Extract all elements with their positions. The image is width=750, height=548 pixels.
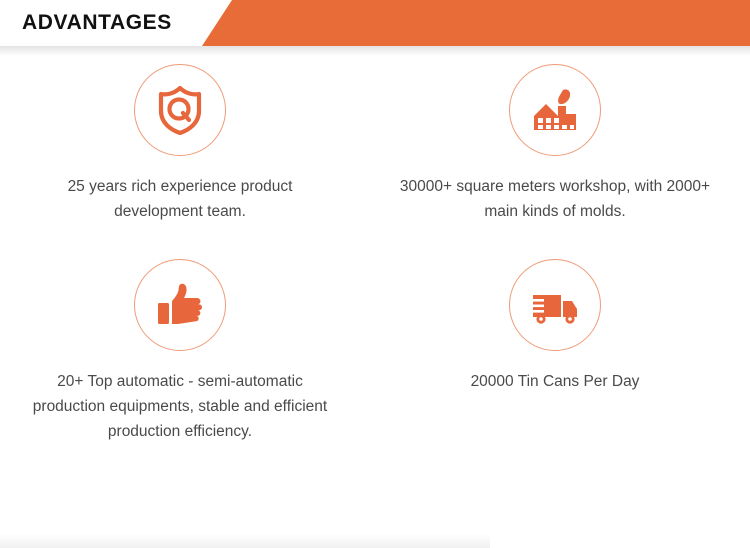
advantage-card: 20000 Tin Cans Per Day: [360, 251, 750, 446]
advantage-card: 20+ Top automatic - semi-automatic produ…: [0, 251, 360, 446]
thumbs-up-icon: [134, 259, 226, 351]
factory-icon: [509, 64, 601, 156]
advantages-grid: 25 years rich experience product develop…: [0, 56, 750, 446]
page-title: ADVANTAGES: [22, 0, 172, 46]
shield-quality-icon: [134, 64, 226, 156]
header-accent-shape: [202, 0, 750, 46]
page-bottom-shadow: [0, 534, 490, 548]
advantage-card: 30000+ square meters workshop, with 2000…: [360, 56, 750, 251]
advantage-card: 25 years rich experience product develop…: [0, 56, 360, 251]
advantage-text: 20+ Top automatic - semi-automatic produ…: [30, 369, 330, 444]
advantages-page: ADVANTAGES 25 years rich experience prod…: [0, 0, 750, 548]
advantage-text: 20000 Tin Cans Per Day: [395, 369, 715, 394]
advantage-text: 30000+ square meters workshop, with 2000…: [395, 174, 715, 224]
header-shadow: [0, 46, 750, 56]
page-header-banner: ADVANTAGES: [0, 0, 750, 46]
delivery-truck-icon: [509, 259, 601, 351]
advantage-text: 25 years rich experience product develop…: [30, 174, 330, 224]
